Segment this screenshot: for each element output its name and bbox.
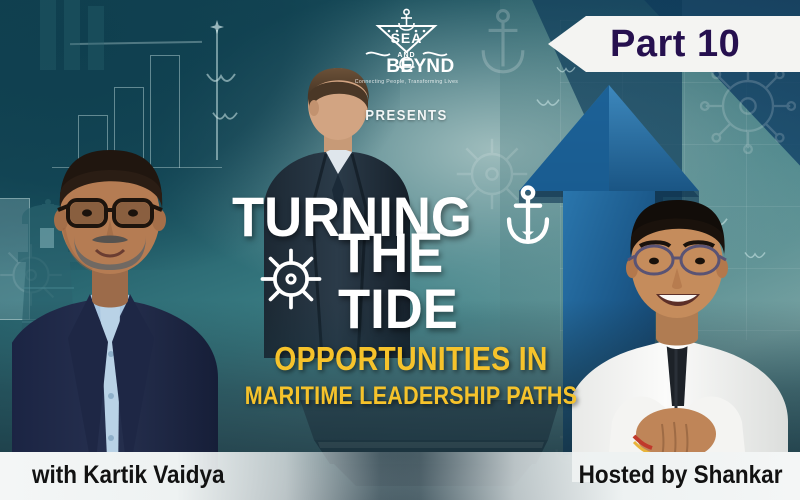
title-line-2: THE TIDE: [338, 225, 577, 337]
footer-host-label: Hosted by Shankar: [578, 461, 782, 490]
part-badge: Part 10: [548, 16, 800, 72]
promo-poster: SEA AND BEY ND Connecting People, Transf…: [0, 0, 800, 500]
building-silhouette: [30, 0, 140, 75]
host-photo: [572, 186, 792, 482]
footer-banner: with Kartik Vaidya Hosted by Shankar: [0, 452, 800, 500]
footer-guest-label: with Kartik Vaidya: [32, 461, 225, 490]
brand-tagline: Connecting People, Transforming Lives: [344, 79, 469, 85]
birds-icon: [206, 72, 236, 91]
brand-logo-mark: SEA AND BEY ND: [344, 6, 469, 78]
svg-text:SEA: SEA: [391, 30, 423, 46]
subtitle-block: OPPORTUNITIES IN MARITIME LEADERSHIP PAT…: [216, 342, 606, 410]
subtitle-line-1: OPPORTUNITIES IN: [243, 342, 578, 377]
part-badge-label: Part 10: [610, 23, 740, 66]
subtitle-line-2: MARITIME LEADERSHIP PATHS: [243, 383, 578, 411]
guest-photo: [12, 128, 228, 480]
svg-text:ND: ND: [426, 56, 454, 77]
title-block: TURNING: [232, 186, 592, 312]
presents-label: PRESENTS: [352, 107, 462, 124]
birds-icon: [212, 110, 238, 128]
brand-logo: SEA AND BEY ND Connecting People, Transf…: [344, 6, 469, 85]
ships-wheel-icon: [260, 248, 322, 315]
title-line-2-row: THE TIDE: [232, 250, 592, 312]
